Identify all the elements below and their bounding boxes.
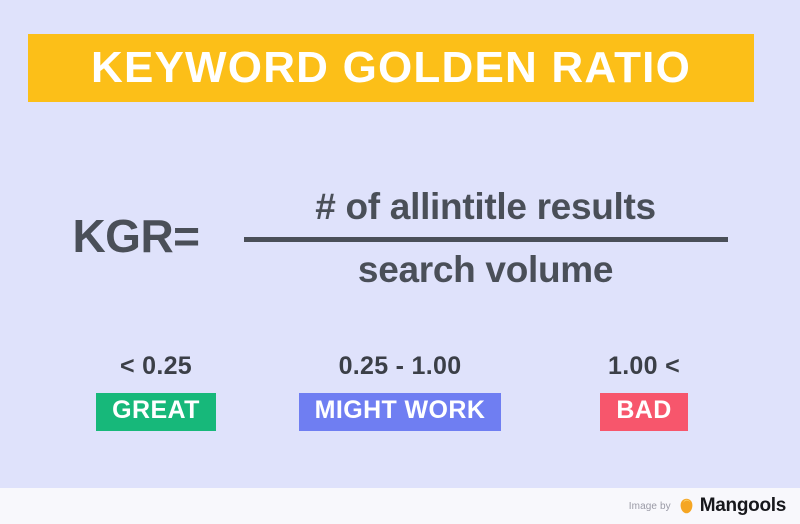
keyword-golden-ratio-infographic: KEYWORD GOLDEN RATIO KGR= # of allintitl… bbox=[0, 0, 800, 524]
fraction-bar bbox=[244, 237, 728, 242]
range-item-great: < 0.25 GREAT bbox=[40, 352, 272, 431]
brand-name: Mangools bbox=[700, 495, 786, 517]
formula-left-hand-side: KGR= bbox=[72, 209, 199, 267]
mango-icon bbox=[679, 498, 694, 514]
page-title: KEYWORD GOLDEN RATIO bbox=[91, 46, 691, 90]
range-value-might-work: 0.25 - 1.00 bbox=[339, 352, 462, 381]
range-item-bad: 1.00 < BAD bbox=[528, 352, 760, 431]
range-value-great: < 0.25 bbox=[120, 352, 192, 381]
status-badge-great: GREAT bbox=[96, 393, 216, 431]
header-banner: KEYWORD GOLDEN RATIO bbox=[28, 34, 754, 102]
status-badge-might-work: MIGHT WORK bbox=[299, 393, 502, 431]
credit-label: Image by bbox=[629, 501, 671, 512]
range-value-bad: 1.00 < bbox=[608, 352, 680, 381]
formula-numerator: # of allintitle results bbox=[315, 186, 656, 227]
formula-fraction: # of allintitle results search volume bbox=[244, 186, 728, 290]
formula-denominator: search volume bbox=[358, 249, 613, 290]
footer-attribution: Image by Mangools bbox=[0, 488, 800, 524]
kgr-formula: KGR= # of allintitle results search volu… bbox=[0, 168, 800, 308]
status-badge-bad: BAD bbox=[600, 393, 687, 431]
range-legend: < 0.25 GREAT 0.25 - 1.00 MIGHT WORK 1.00… bbox=[40, 352, 760, 431]
range-item-might-work: 0.25 - 1.00 MIGHT WORK bbox=[272, 352, 528, 431]
